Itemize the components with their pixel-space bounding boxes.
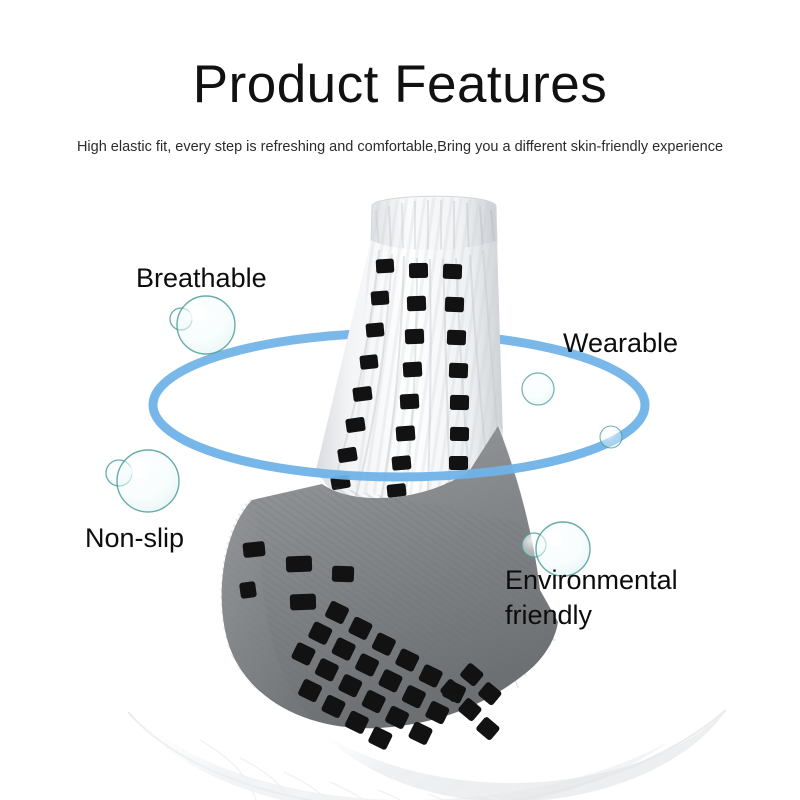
feather-decoration — [128, 710, 726, 800]
feature-label-wearable: Wearable — [563, 326, 678, 361]
feature-label-nonslip: Non-slip — [85, 521, 184, 556]
page-title: Product Features — [0, 56, 800, 114]
feature-label-breathable: Breathable — [136, 261, 267, 296]
bubble-cluster-breathable — [170, 296, 235, 354]
page-subtitle: High elastic fit, every step is refreshi… — [0, 139, 800, 156]
product-features-infographic: Product Features High elastic fit, every… — [0, 0, 800, 800]
bubble-cluster-nonslip — [106, 450, 179, 512]
grip-sock-artwork — [0, 170, 800, 800]
bubble-cluster-wearable — [522, 373, 622, 448]
product-illustration — [0, 170, 800, 800]
feature-label-environmental: Environmental friendly — [505, 563, 678, 632]
